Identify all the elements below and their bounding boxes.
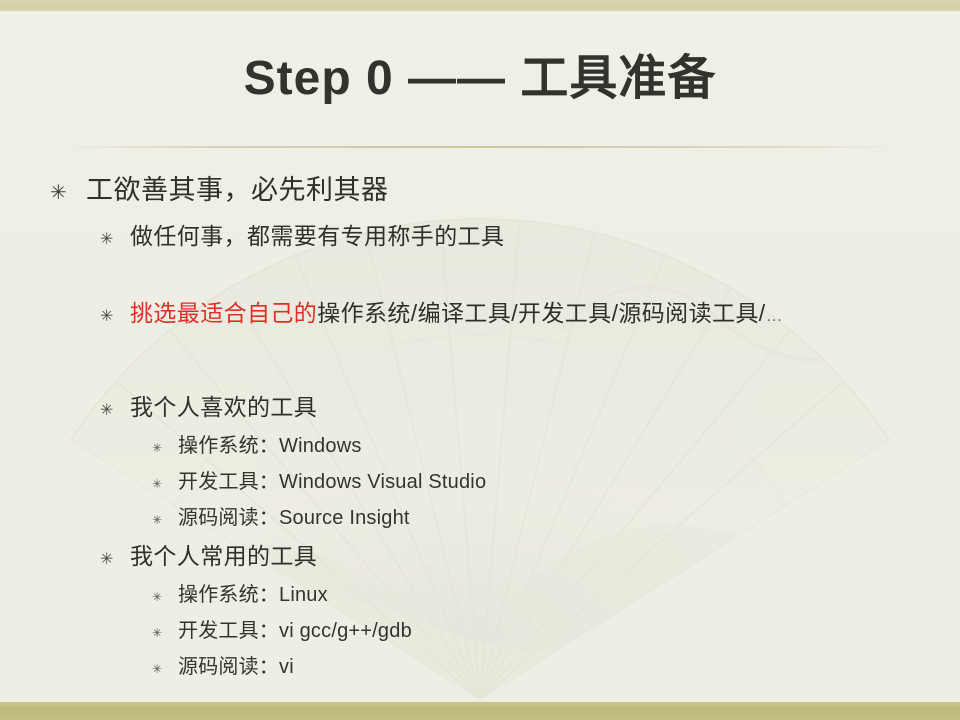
spacer [0, 285, 960, 294]
bullet-text-rest: 操作系统/编译工具/开发工具/源码阅读工具/ [317, 300, 765, 326]
bullet-row-level3: ✳ 操作系统：Linux [0, 578, 960, 607]
bullet-asterisk-icon: ✳ [152, 590, 178, 604]
bullet-asterisk-icon: ✳ [152, 662, 178, 676]
bullet-text: 开发工具：Windows Visual Studio [178, 465, 486, 494]
slide-title: Step 0 —— 工具准备 [0, 52, 960, 106]
bullet-text: 做任何事，都需要有专用称手的工具 [130, 217, 504, 251]
bullet-row-level2-highlighted: ✳ 挑选最适合自己的操作系统/编译工具/开发工具/源码阅读工具/… [0, 294, 960, 328]
bullet-text: 源码阅读：Source Insight [178, 501, 410, 530]
bullet-text: 我个人喜欢的工具 [130, 388, 317, 422]
bullet-row-level2: ✳ 我个人常用的工具 [0, 537, 960, 571]
spacer [0, 328, 960, 362]
bullet-row-level2: ✳ 做任何事，都需要有专用称手的工具 [0, 217, 960, 251]
bullet-row-level3: ✳ 操作系统：Windows [0, 429, 960, 458]
bullet-text-composite: 挑选最适合自己的操作系统/编译工具/开发工具/源码阅读工具/… [130, 294, 783, 328]
bullet-asterisk-icon: ✳ [100, 400, 130, 420]
title-divider-rule [62, 146, 898, 148]
bullet-asterisk-icon: ✳ [100, 306, 130, 326]
bullet-asterisk-icon: ✳ [152, 513, 178, 527]
bullet-asterisk-icon: ✳ [100, 229, 130, 249]
top-gold-band [0, 0, 960, 11]
bullet-text: 操作系统：Windows [178, 429, 362, 458]
spacer [0, 362, 960, 388]
bullet-asterisk-icon: ✳ [152, 441, 178, 455]
bullet-asterisk-icon: ✳ [100, 549, 130, 569]
bullet-row-level3: ✳ 源码阅读：Source Insight [0, 501, 960, 530]
bullet-row-level3: ✳ 源码阅读：vi [0, 650, 960, 679]
bullet-text: 源码阅读：vi [178, 650, 294, 679]
bullet-text: 工欲善其事，必先利其器 [86, 168, 389, 207]
bullet-text: 操作系统：Linux [178, 578, 328, 607]
ellipsis-text: … [766, 306, 783, 325]
bullet-asterisk-icon: ✳ [152, 626, 178, 640]
highlight-red-text: 挑选最适合自己的 [130, 300, 317, 326]
bullet-text: 开发工具：vi gcc/g++/gdb [178, 614, 412, 643]
bullet-row-level3: ✳ 开发工具：vi gcc/g++/gdb [0, 614, 960, 643]
bullet-asterisk-icon: ✳ [152, 477, 178, 491]
bottom-gold-band [0, 702, 960, 720]
slide-canvas: Step 0 —— 工具准备 ✳ 工欲善其事，必先利其器 ✳ 做任何事，都需要有… [0, 0, 960, 720]
bullet-row-level3: ✳ 开发工具：Windows Visual Studio [0, 465, 960, 494]
spacer [0, 251, 960, 285]
bullet-row-level1: ✳ 工欲善其事，必先利其器 [0, 168, 960, 207]
bullet-row-level2: ✳ 我个人喜欢的工具 [0, 388, 960, 422]
bullet-asterisk-icon: ✳ [50, 180, 86, 205]
bullet-text: 我个人常用的工具 [130, 537, 317, 571]
slide-body: ✳ 工欲善其事，必先利其器 ✳ 做任何事，都需要有专用称手的工具 ✳ 挑选最适合… [0, 168, 960, 686]
